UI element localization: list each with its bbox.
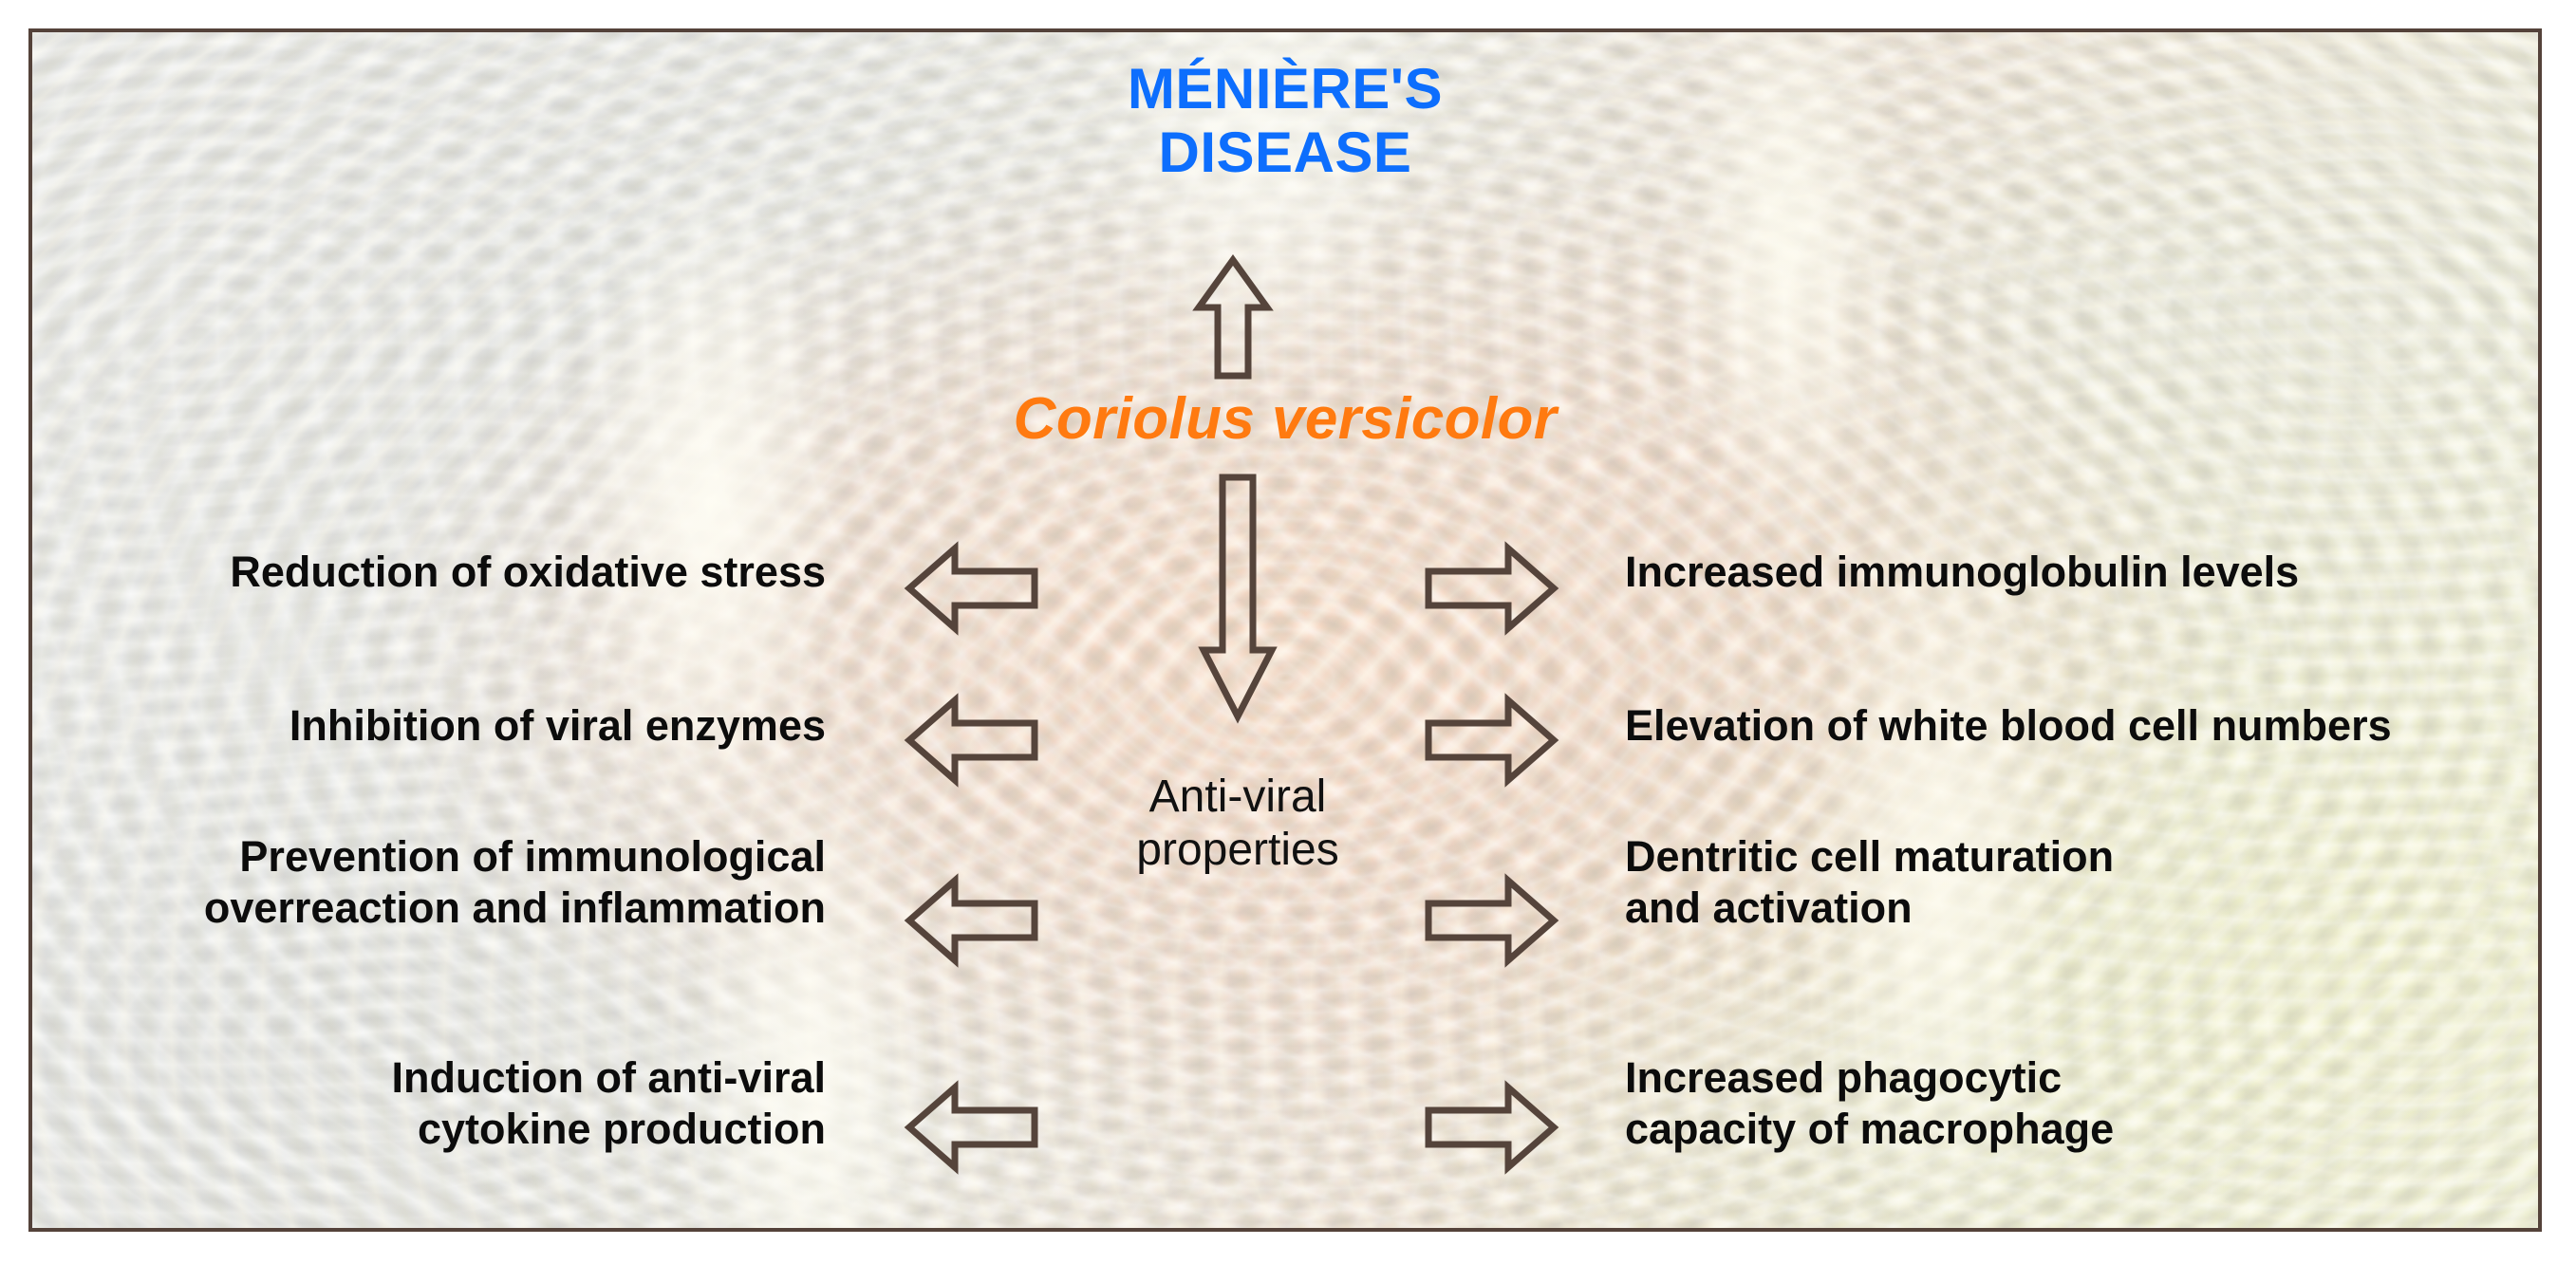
title-line-2: DISEASE	[32, 121, 2538, 184]
center-label: Anti-viral properties	[1067, 771, 1409, 876]
benefit-left-3: Prevention of immunological overreaction…	[204, 831, 826, 934]
benefit-left-2: Inhibition of viral enzymes	[289, 700, 826, 752]
benefit-right-3-line-2: and activation	[1625, 883, 2114, 934]
arrow-right-icon-3	[1425, 877, 1558, 964]
center-label-line-1: Anti-viral	[1067, 771, 1409, 824]
figure-page: MÉNIÈRE'S DISEASE Coriolus versicolor An…	[0, 0, 2576, 1264]
arrow-right-icon-1	[1425, 545, 1558, 632]
title-line-1: MÉNIÈRE'S	[32, 57, 2538, 121]
benefit-left-4-line-1: Induction of anti-viral	[392, 1052, 827, 1104]
species-name: Coriolus versicolor	[32, 385, 2538, 453]
benefit-right-4-line-2: capacity of macrophage	[1625, 1104, 2114, 1155]
benefit-right-4-line-1: Increased phagocytic	[1625, 1052, 2114, 1104]
benefit-left-1-line-1: Reduction of oxidative stress	[230, 547, 826, 598]
center-label-line-2: properties	[1067, 824, 1409, 877]
arrow-right-icon-2	[1425, 697, 1558, 784]
benefit-right-1: Increased immunoglobulin levels	[1625, 547, 2299, 598]
arrow-down-icon	[1200, 474, 1276, 720]
benefit-left-3-line-2: overreaction and inflammation	[204, 883, 826, 934]
benefit-left-4: Induction of anti-viral cytokine product…	[392, 1052, 827, 1155]
figure-content: MÉNIÈRE'S DISEASE Coriolus versicolor An…	[32, 32, 2538, 1228]
benefit-right-3-line-1: Dentritic cell maturation	[1625, 831, 2114, 883]
arrow-right-icon-4	[1425, 1084, 1558, 1171]
benefit-right-1-line-1: Increased immunoglobulin levels	[1625, 547, 2299, 598]
arrow-left-icon-4	[905, 1084, 1038, 1171]
arrow-left-icon-1	[905, 545, 1038, 632]
arrow-left-icon-3	[905, 877, 1038, 964]
benefit-left-4-line-2: cytokine production	[392, 1104, 827, 1155]
benefit-right-2-line-1: Elevation of white blood cell numbers	[1625, 700, 2392, 752]
arrow-left-icon-2	[905, 697, 1038, 784]
figure-title: MÉNIÈRE'S DISEASE	[32, 57, 2538, 184]
figure-frame: MÉNIÈRE'S DISEASE Coriolus versicolor An…	[28, 28, 2542, 1232]
benefit-left-3-line-1: Prevention of immunological	[204, 831, 826, 883]
benefit-left-2-line-1: Inhibition of viral enzymes	[289, 700, 826, 752]
benefit-right-4: Increased phagocytic capacity of macroph…	[1625, 1052, 2114, 1155]
benefit-right-2: Elevation of white blood cell numbers	[1625, 700, 2392, 752]
arrow-up-icon	[1195, 256, 1271, 380]
benefit-left-1: Reduction of oxidative stress	[230, 547, 826, 598]
benefit-right-3: Dentritic cell maturation and activation	[1625, 831, 2114, 934]
